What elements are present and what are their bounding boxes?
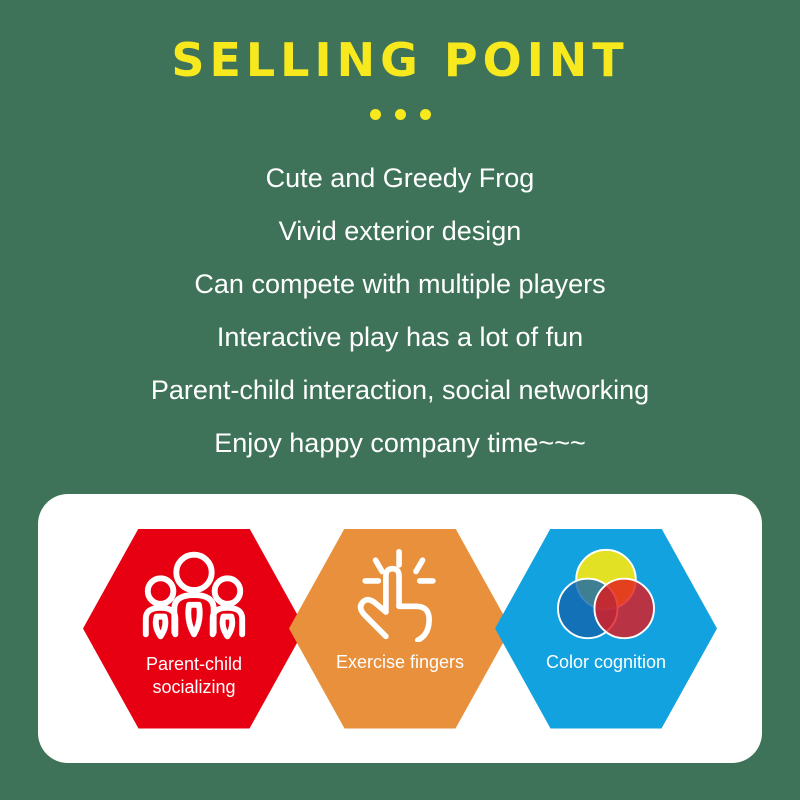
hexagon-exercise-fingers[interactable]: Exercise fingers [289,529,511,729]
hexagon-parent-child-socializing[interactable]: Parent-childsocializing [83,529,305,729]
feature-line: Interactive play has a lot of fun [0,311,800,364]
family-group-icon [135,547,253,643]
feature-line: Cute and Greedy Frog [0,152,800,205]
color-venn-circles-icon [547,547,665,643]
hexagon-label: Parent-childsocializing [132,653,256,699]
feature-line: Parent-child interaction, social network… [0,364,800,417]
benefits-card: Parent-childsocializing [38,494,762,763]
feature-line: Can compete with multiple players [0,258,800,311]
pointing-finger-tap-icon [341,547,459,643]
hexagon-label: Color cognition [532,651,680,674]
feature-list: Cute and Greedy Frog Vivid exterior desi… [0,152,800,470]
hexagon-label-line1: Parent-child [146,654,242,674]
page-title: SELLING POINT [0,34,800,86]
header-block: SELLING POINT [0,0,800,120]
feature-line: Vivid exterior design [0,205,800,258]
hexagon-label: Exercise fingers [322,651,478,674]
hexagon-row: Parent-childsocializing [38,494,762,763]
hexagon-color-cognition[interactable]: Color cognition [495,529,717,729]
hexagon-label-line2: socializing [152,677,235,697]
dot-icon [395,109,406,120]
dot-icon [420,109,431,120]
dot-icon [370,109,381,120]
title-dots-decoration [0,108,800,120]
feature-line: Enjoy happy company time~~~ [0,417,800,470]
